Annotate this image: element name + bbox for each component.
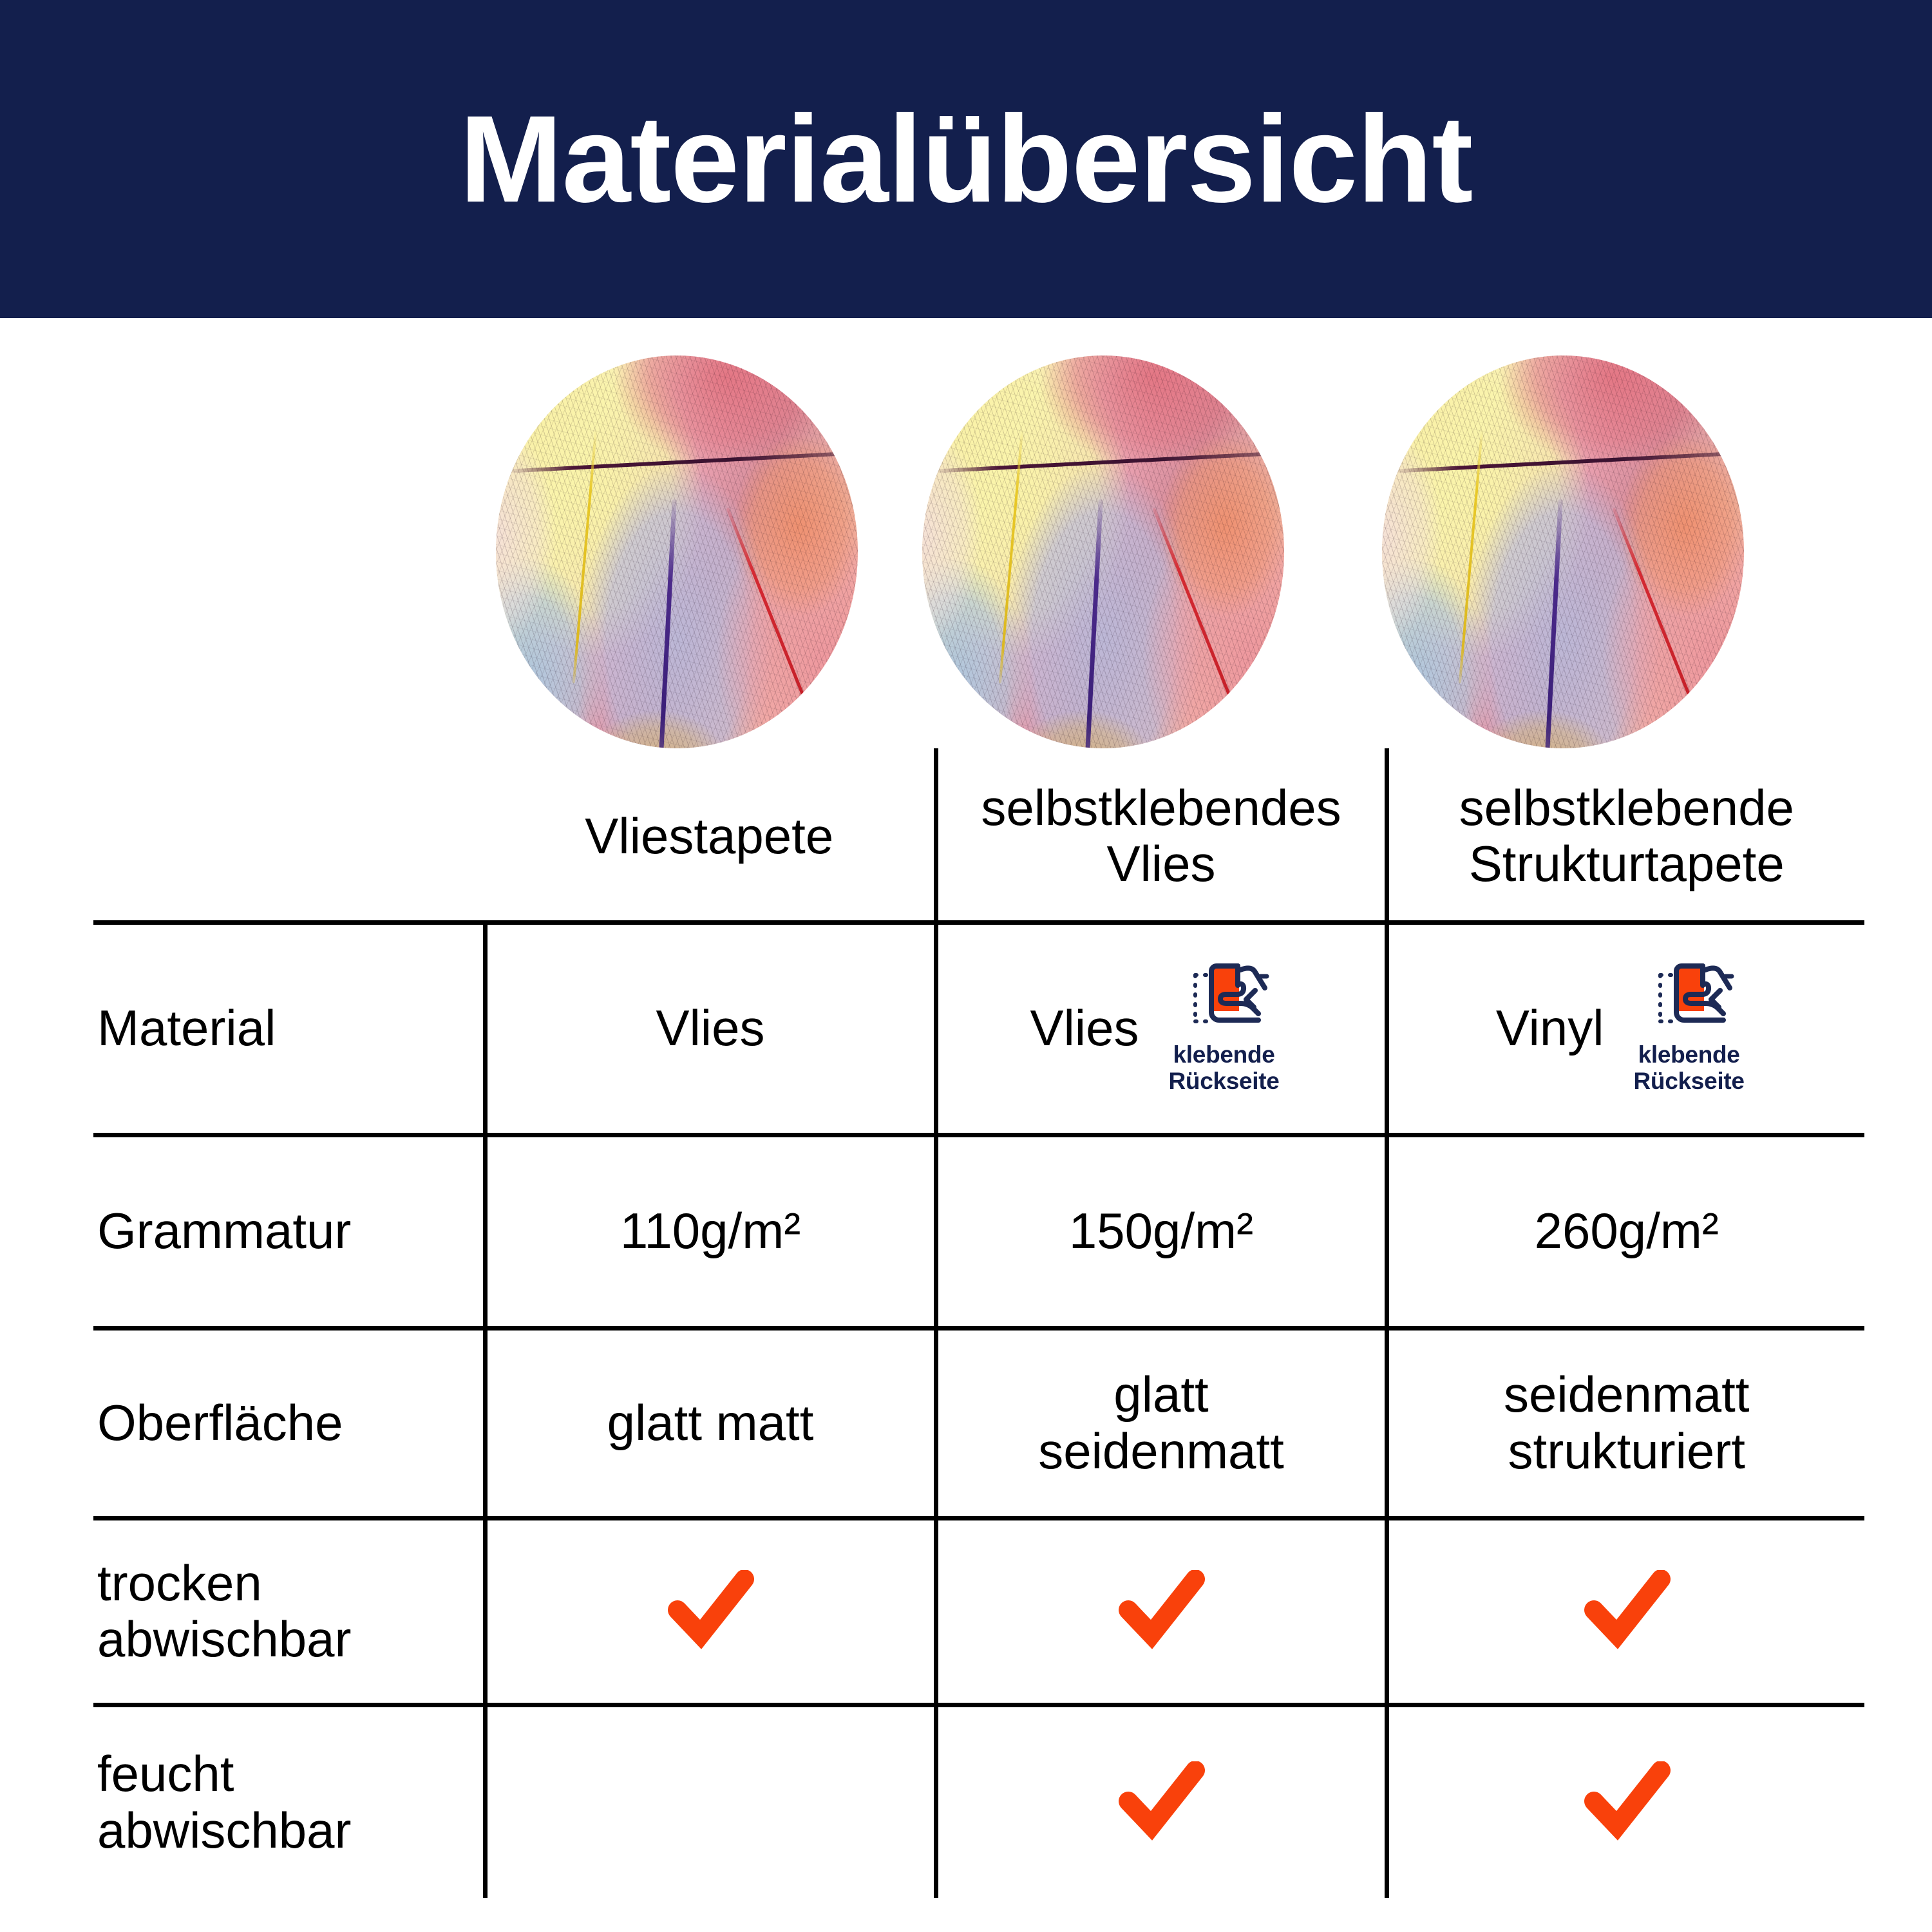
table-row-grammatur: Grammatur 110g/m² 150g/m² 260g/m² — [93, 1135, 1864, 1328]
cell-value: Vinyl — [1496, 1000, 1604, 1056]
cell-grammatur-selbstklebendes-vlies: 150g/m² — [936, 1135, 1387, 1328]
checkmark-icon — [662, 1570, 759, 1653]
row-label-material: Material — [93, 922, 485, 1135]
cell-oberflaeche-selbstklebendes-vlies: glatt seidenmatt — [936, 1328, 1387, 1518]
cell-value: seidenmatt strukturiert — [1504, 1366, 1750, 1479]
adhesive-back-peel-icon — [1176, 962, 1273, 1038]
cell-oberflaeche-selbstklebende-strukturtapete: seidenmatt strukturiert — [1387, 1328, 1864, 1518]
table-row-feucht-abwischbar: feucht abwischbar — [93, 1705, 1864, 1898]
row-label-grammatur: Grammatur — [93, 1135, 485, 1328]
cell-value: 260g/m² — [1535, 1202, 1719, 1259]
row-label-feucht-abwischbar: feucht abwischbar — [93, 1705, 485, 1898]
leaf-pattern-preview-3 — [1382, 355, 1744, 748]
cell-value: glatt matt — [607, 1394, 814, 1451]
table-header-row: Vliestapete selbstklebendes Vlies selbst… — [93, 748, 1864, 922]
no-checkmark-placeholder — [662, 1761, 759, 1844]
leaf-artwork — [1382, 355, 1744, 748]
checkmark-icon — [1113, 1570, 1209, 1653]
cell-grammatur-vliestapete: 110g/m² — [485, 1135, 936, 1328]
adhesive-back-badge-label: klebende Rückseite — [1168, 1042, 1279, 1094]
adhesive-back-peel-icon — [1641, 962, 1738, 1038]
cell-value: glatt seidenmatt — [1038, 1366, 1284, 1479]
material-comparison-table: Vliestapete selbstklebendes Vlies selbst… — [93, 748, 1864, 1898]
table-row-trocken-abwischbar: trocken abwischbar — [93, 1518, 1864, 1705]
checkmark-icon — [1113, 1761, 1209, 1844]
cell-value: Vlies — [1030, 1000, 1139, 1056]
leaf-artwork — [496, 355, 858, 748]
cell-material-vliestapete: Vlies — [485, 922, 936, 1135]
cell-value: Vlies — [656, 1000, 764, 1056]
cell-trocken-selbstklebendes-vlies — [936, 1518, 1387, 1705]
adhesive-back-badge: klebende Rückseite — [1156, 962, 1293, 1094]
cell-material-selbstklebende-strukturtapete: Vinyl — [1387, 922, 1864, 1135]
leaf-pattern-preview-1 — [496, 355, 858, 748]
cell-oberflaeche-vliestapete: glatt matt — [485, 1328, 936, 1518]
cell-feucht-selbstklebende-strukturtapete — [1387, 1705, 1864, 1898]
adhesive-back-badge: klebende Rückseite — [1621, 962, 1757, 1094]
cell-grammatur-selbstklebende-strukturtapete: 260g/m² — [1387, 1135, 1864, 1328]
material-overview-page: Materialübersicht — [0, 0, 1932, 1932]
table-row-oberflaeche: Oberfläche glatt matt glatt seidenmatt s… — [93, 1328, 1864, 1518]
table-row-material: Material Vlies Vlies — [93, 922, 1864, 1135]
table-corner-cell — [93, 748, 485, 922]
column-header-label: selbstklebendes Vlies — [981, 779, 1341, 892]
column-header-label: Vliestapete — [585, 808, 833, 864]
cell-feucht-vliestapete — [485, 1705, 936, 1898]
column-header-selbstklebendes-vlies: selbstklebendes Vlies — [936, 748, 1387, 922]
checkmark-icon — [1578, 1570, 1675, 1653]
page-header: Materialübersicht — [0, 0, 1932, 318]
row-label-oberflaeche: Oberfläche — [93, 1328, 485, 1518]
cell-feucht-selbstklebendes-vlies — [936, 1705, 1387, 1898]
row-label-trocken-abwischbar: trocken abwischbar — [93, 1518, 485, 1705]
cell-trocken-vliestapete — [485, 1518, 936, 1705]
page-title: Materialübersicht — [460, 97, 1473, 221]
checkmark-icon — [1578, 1761, 1675, 1844]
adhesive-back-badge-label: klebende Rückseite — [1634, 1042, 1745, 1094]
leaf-pattern-preview-2 — [922, 355, 1284, 748]
cell-trocken-selbstklebende-strukturtapete — [1387, 1518, 1864, 1705]
column-header-label: selbstklebende Strukturtapete — [1459, 779, 1794, 892]
cell-value: 110g/m² — [620, 1202, 800, 1259]
leaf-artwork — [922, 355, 1284, 748]
material-comparison-table-wrapper: Vliestapete selbstklebendes Vlies selbst… — [93, 748, 1840, 1898]
column-header-selbstklebende-strukturtapete: selbstklebende Strukturtapete — [1387, 748, 1864, 922]
cell-value: 150g/m² — [1069, 1202, 1253, 1259]
column-header-vliestapete: Vliestapete — [485, 748, 936, 922]
cell-material-selbstklebendes-vlies: Vlies — [936, 922, 1387, 1135]
preview-images-row — [0, 355, 1932, 748]
